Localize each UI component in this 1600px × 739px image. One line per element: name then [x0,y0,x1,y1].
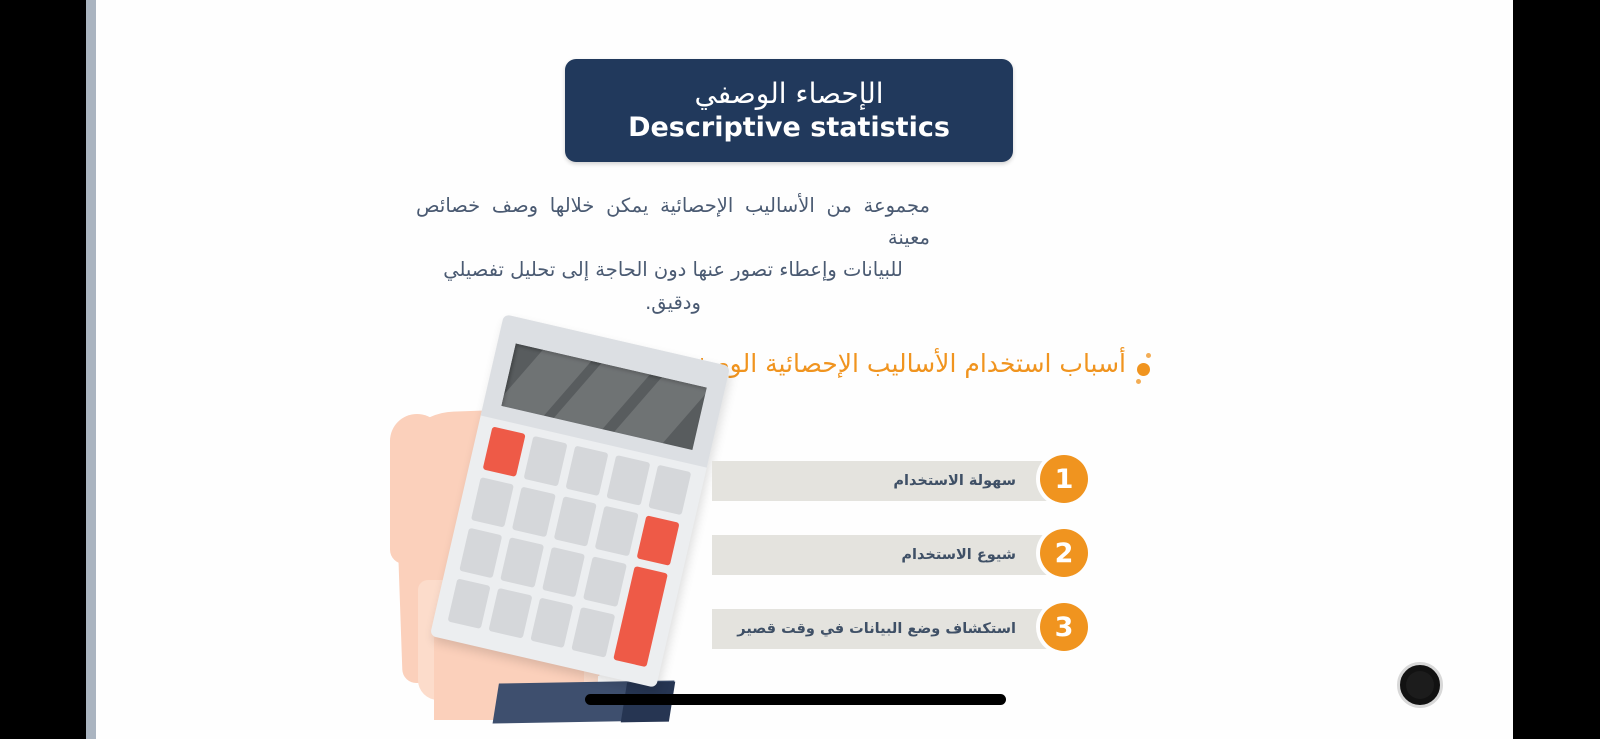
floating-action-button-inner [1406,671,1434,699]
letterbox-left [0,0,86,739]
list-item[interactable]: شيوع الاستخدام 2 [696,529,1096,577]
screen-root: الإحصاء الوصفي Descriptive statistics مج… [0,0,1600,739]
calculator-body [430,314,730,688]
calculator-key [448,578,491,629]
intro-line-1: مجموعة من الأساليب الإحصائية يمكن خلالها… [416,190,930,254]
reason-bar: شيوع الاستخدام [712,535,1064,575]
calculator-key [459,528,502,579]
reason-bar: سهولة الاستخدام [712,461,1064,501]
calculator-key [542,547,585,598]
letterbox-right [1513,0,1600,739]
home-indicator-bar[interactable] [585,694,1006,705]
title-box: الإحصاء الوصفي Descriptive statistics [565,59,1013,162]
bullet-dot-top [1146,353,1151,358]
calculator-keypad [448,426,692,667]
reasons-list: سهولة الاستخدام 1 شيوع الاستخدام 2 استكش… [696,455,1096,677]
hand-thumb [390,414,444,564]
floating-action-button[interactable] [1397,662,1443,708]
calculator-key [595,506,638,557]
title-english: Descriptive statistics [628,112,950,143]
calculator-key [607,455,650,506]
reason-label: استكشاف وضع البيانات في وقت قصير [737,621,1016,637]
calculator-key [636,515,679,566]
reason-label: شيوع الاستخدام [901,547,1016,563]
intro-line-2: للبيانات وإعطاء تصور عنها دون الحاجة إلى… [416,254,930,318]
list-item[interactable]: استكشاف وضع البيانات في وقت قصير 3 [696,603,1096,651]
calculator-key [483,426,526,477]
intro-paragraph: مجموعة من الأساليب الإحصائية يمكن خلالها… [416,190,930,319]
calculator-key [471,477,514,528]
title-arabic: الإحصاء الوصفي [694,78,883,110]
reason-number-badge: 2 [1040,529,1088,577]
reason-number-badge: 3 [1040,603,1088,651]
calculator-key [571,607,614,658]
reason-bar: استكشاف وضع البيانات في وقت قصير [712,609,1064,649]
calculator-key [583,556,626,607]
orange-bullet-icon [1134,352,1156,386]
list-item[interactable]: سهولة الاستخدام 1 [696,455,1096,503]
calculator-key [554,496,597,547]
reason-label: سهولة الاستخدام [893,473,1016,489]
page-edge-strip [86,0,96,739]
bullet-dot-main [1137,363,1150,376]
calculator-key [501,537,544,588]
calculator-key [530,597,573,648]
calculator-illustration [376,330,706,739]
calculator-key [648,465,691,516]
calculator-key [512,487,555,538]
reason-number-badge: 1 [1040,455,1088,503]
slide-canvas: الإحصاء الوصفي Descriptive statistics مج… [96,0,1513,739]
bullet-dot-bottom [1136,379,1141,384]
calculator-key [489,588,532,639]
calculator-key [524,436,567,487]
calculator-key [565,445,608,496]
